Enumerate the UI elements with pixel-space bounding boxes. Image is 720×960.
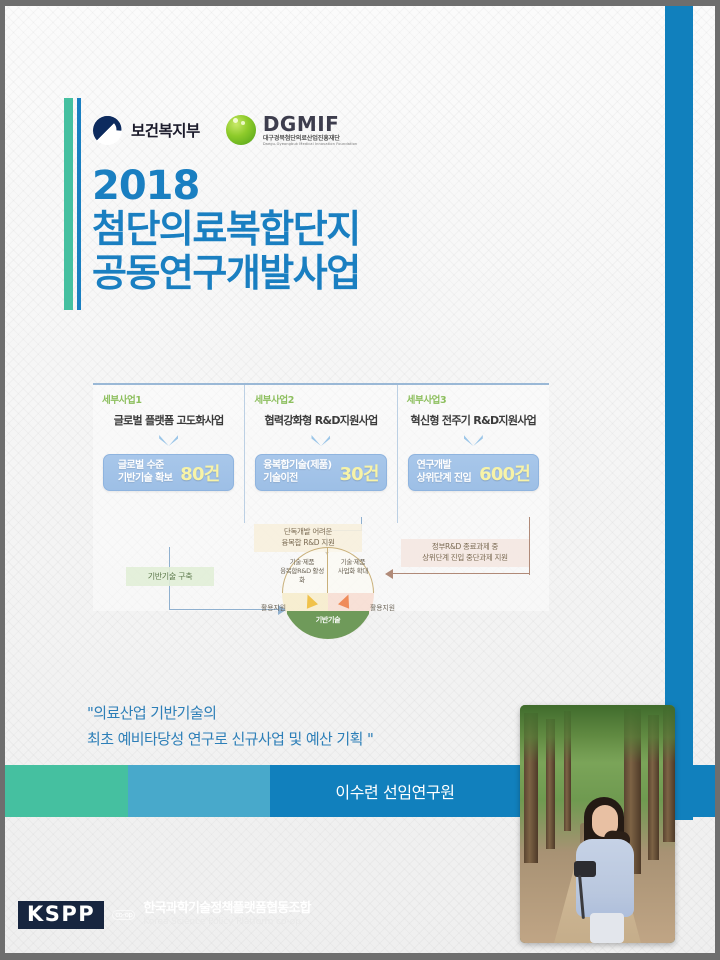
sector-right-line-1: 기술·제품 — [330, 558, 376, 567]
title-line-2: 공동연구개발사업 — [92, 251, 360, 295]
diagram-flow-area: 단독개발 어려운 융복합 R&D 지원 정부R&D 종료과제 중 상위단계 진입… — [93, 523, 549, 613]
frame-edge-left — [0, 0, 5, 960]
green-globe-icon — [226, 115, 256, 145]
circle-divider — [327, 547, 328, 593]
result-box-1: 글로벌 수준 기반기술 확보 80건 — [103, 454, 234, 491]
ministry-logo-label: 보건복지부 — [131, 119, 200, 141]
sector-right-line-2: 사업화 확대 — [330, 567, 376, 576]
frame-edge-top — [0, 0, 720, 6]
photo-canopy — [520, 705, 675, 763]
chevron-down-icon — [159, 435, 178, 446]
sector-left-line-1: 기술·제품 — [278, 558, 326, 567]
subproject-name-2: 협력강화형 R&D지원사업 — [245, 412, 396, 428]
diagram-column-2: 세부사업2 협력강화형 R&D지원사업 융복합기술(제품) 기술이전 30건 — [244, 385, 396, 523]
dgmif-english-name: Daegu-Gyeongbuk Medical Innovation Found… — [263, 143, 357, 147]
frame-edge-right — [715, 0, 720, 960]
subproject-tag-2: 세부사업2 — [245, 392, 396, 406]
slide-canvas: 보건복지부 DGMIF 대구경북첨단의료산업진흥재단 Daegu-Gyeongb… — [0, 0, 720, 960]
note-right-line-2: 상위단계 진입 중단과제 지원 — [407, 553, 523, 564]
foundation-tech-box: 기반기술 구축 — [126, 567, 214, 586]
logo-ministry-of-health-welfare: 보건복지부 — [93, 116, 200, 145]
chevron-down-icon — [464, 435, 483, 446]
result-label-3a: 연구개발 — [417, 460, 471, 473]
speaker-name: 이수련 선임연구원 — [270, 765, 520, 817]
result-label-2b: 기술이전 — [263, 473, 331, 486]
subproject-tag-1: 세부사업1 — [93, 392, 244, 406]
subproject-name-3: 혁신형 전주기 R&D지원사업 — [398, 412, 549, 428]
dgmif-abbr: DGMIF — [263, 114, 357, 134]
bottom-band-light-blue — [128, 765, 270, 817]
program-structure-diagram: 세부사업1 글로벌 플랫폼 고도화사업 글로벌 수준 기반기술 확보 80건 세… — [93, 383, 549, 611]
result-value-1: 80건 — [180, 460, 219, 486]
speaker-photo — [520, 705, 675, 943]
diagram-column-3: 세부사업3 혁신형 전주기 R&D지원사업 연구개발 상위단계 진입 600건 — [397, 385, 549, 523]
title-accent-bar-green — [64, 98, 73, 310]
arrow-left-icon — [385, 569, 393, 579]
circle-sector-right-label: 기술·제품 사업화 확대 — [330, 558, 376, 576]
sector-left-line-2: 융복합R&D 활성화 — [278, 567, 326, 585]
quote-line-1: "의료산업 기반기술의 — [87, 700, 373, 726]
bottom-band-green — [0, 765, 128, 817]
logo-row: 보건복지부 DGMIF 대구경북첨단의료산업진흥재단 Daegu-Gyeongb… — [93, 110, 357, 150]
circle-base-label: 기반기술 — [304, 615, 352, 625]
title-accent-bar-blue — [77, 98, 81, 310]
page-title: 2018 첨단의료복합단지 공동연구개발사업 — [92, 165, 360, 296]
subproject-tag-3: 세부사업3 — [398, 392, 549, 406]
note-right-line-1: 정부R&D 종료과제 중 — [407, 542, 523, 553]
frame-edge-bottom — [0, 953, 720, 960]
diagram-column-1: 세부사업1 글로벌 플랫폼 고도화사업 글로벌 수준 기반기술 확보 80건 — [93, 385, 244, 523]
kspp-korean-name: 한국과학기술정책플랫폼협동조합 — [143, 902, 310, 917]
title-year: 2018 — [92, 165, 360, 207]
note-box-right: 정부R&D 종료과제 중 상위단계 진입 중단과제 지원 — [401, 539, 529, 567]
result-label-1a: 글로벌 수준 — [118, 460, 172, 473]
photo-person-shorts — [590, 913, 624, 943]
chevron-down-icon — [311, 435, 330, 446]
result-value-3: 600건 — [479, 460, 530, 486]
connector-line-right-vertical — [529, 517, 530, 575]
quote-block: "의료산업 기반기술의 최초 예비타당성 연구로 신규사업 및 예산 기획 " — [87, 700, 373, 753]
photo-camera — [574, 861, 596, 877]
dgmif-korean-name: 대구경북첨단의료산업진흥재단 — [263, 136, 357, 142]
title-line-1: 첨단의료복합단지 — [92, 207, 360, 251]
photo-person — [568, 797, 640, 943]
result-value-2: 30건 — [339, 460, 378, 486]
connector-line-right-horizontal — [393, 573, 530, 574]
result-label-1b: 기반기술 확보 — [118, 473, 172, 486]
photo-person-shirt — [576, 839, 634, 917]
kspp-english-name: Korea Science Policy Platform co-op — [143, 917, 310, 927]
result-label-3b: 상위단계 진입 — [417, 473, 471, 486]
result-box-3: 연구개발 상위단계 진입 600건 — [408, 454, 539, 491]
kspp-wordmark: KSPP — [18, 901, 104, 929]
core-circle-diagram: 기술·제품 융복합R&D 활성화 기술·제품 사업화 확대 활용지원 활용지원 … — [282, 547, 374, 639]
note-left-line-1: 단독개발 어려운 — [260, 527, 356, 538]
support-label-right: 활용지원 — [370, 602, 414, 612]
result-label-2a: 융복합기술(제품) — [263, 460, 331, 473]
diagram-columns: 세부사업1 글로벌 플랫폼 고도화사업 글로벌 수준 기반기술 확보 80건 세… — [93, 385, 549, 523]
taegeuk-icon — [93, 116, 122, 145]
logo-dgmif: DGMIF 대구경북첨단의료산업진흥재단 Daegu-Gyeongbuk Med… — [226, 114, 357, 147]
right-blue-stripe — [665, 6, 693, 820]
subproject-name-1: 글로벌 플랫폼 고도화사업 — [93, 412, 244, 428]
result-box-2: 융복합기술(제품) 기술이전 30건 — [255, 454, 386, 491]
circle-sector-left-label: 기술·제품 융복합R&D 활성화 — [278, 558, 326, 585]
quote-line-2: 최초 예비타당성 연구로 신규사업 및 예산 기획 " — [87, 726, 373, 752]
footer-logo: KSPP co-op 한국과학기술정책플랫폼협동조합 Korea Science… — [18, 898, 311, 932]
support-label-left: 활용지원 — [242, 602, 286, 612]
coop-icon: co-op — [112, 910, 135, 920]
